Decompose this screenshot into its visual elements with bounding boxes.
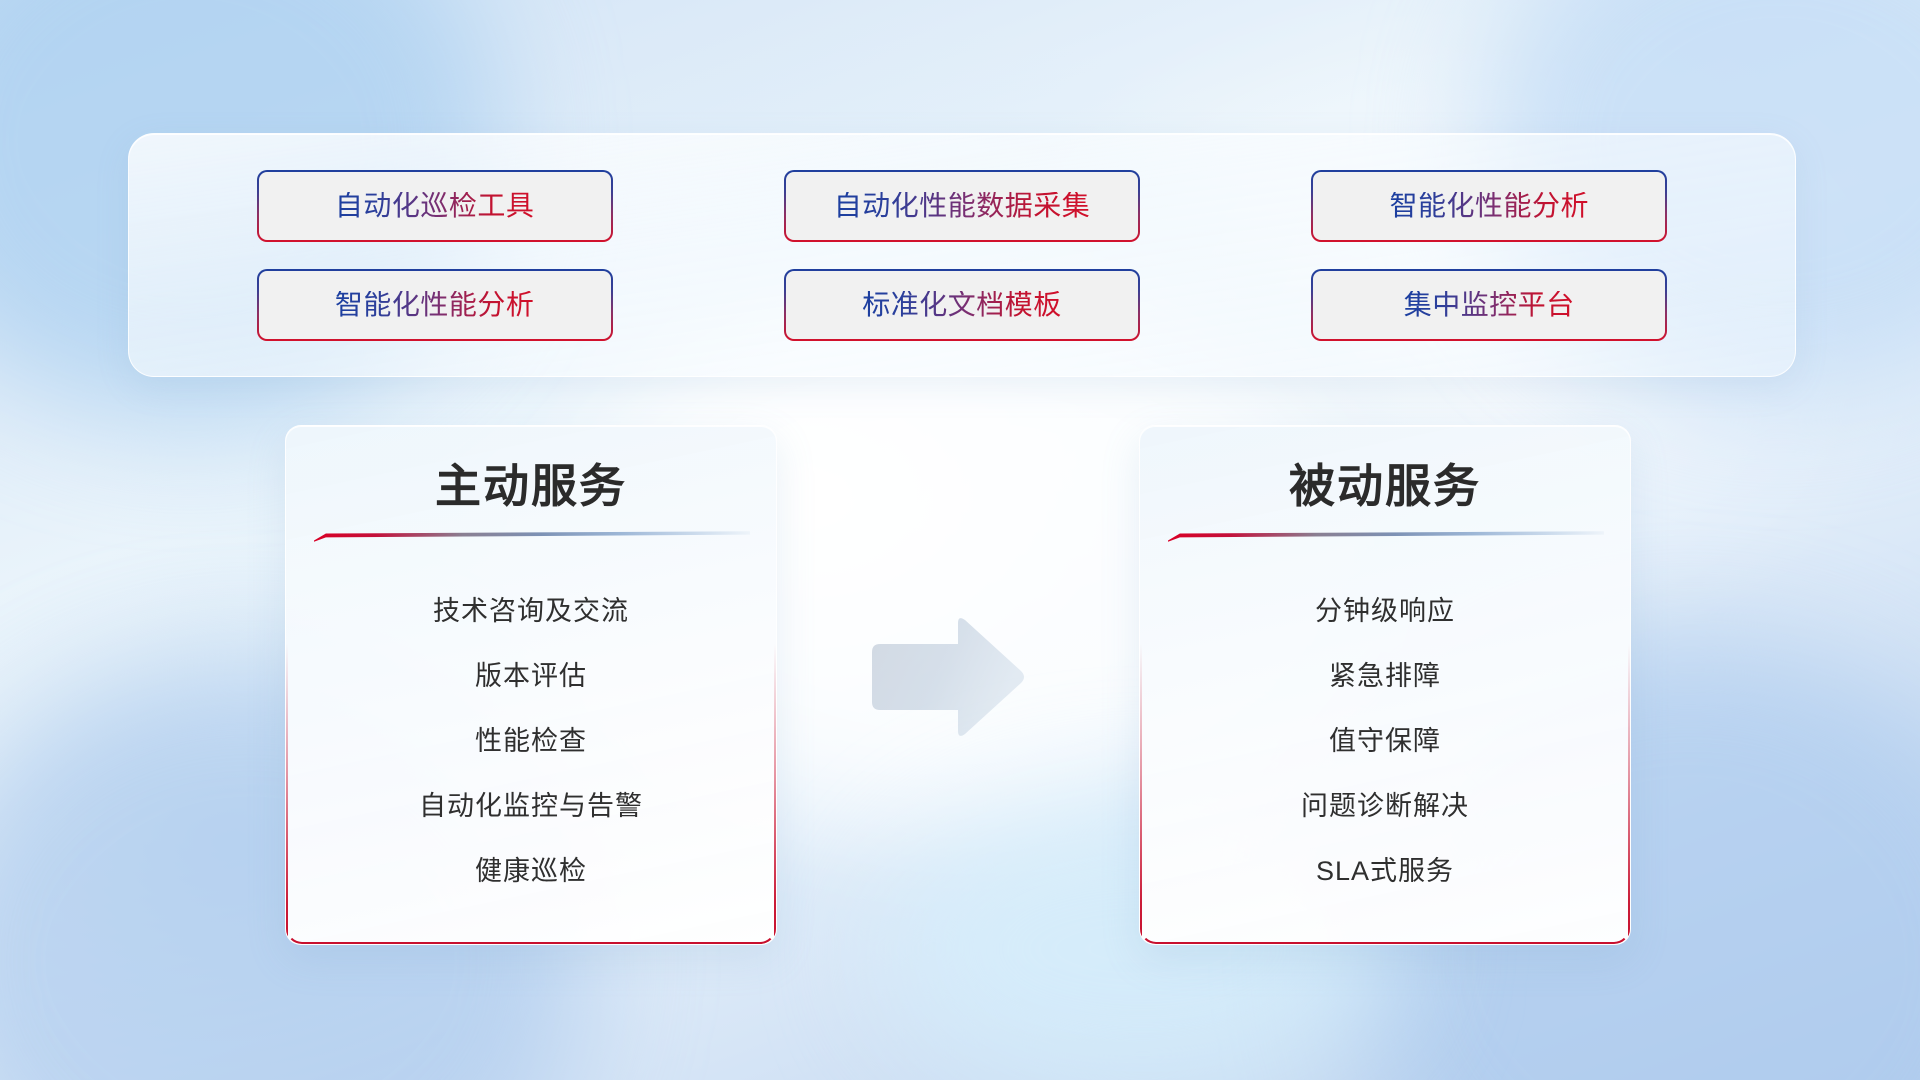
- capability-pill-label: 智能化性能分析: [335, 291, 535, 319]
- capability-pill-label: 自动化性能数据采集: [834, 192, 1091, 220]
- list-item: 紧急排障: [1329, 660, 1441, 692]
- title-gradient-divider: [1168, 530, 1604, 542]
- passive-service-title: 被动服务: [1140, 460, 1630, 513]
- capability-pill-label: 智能化性能分析: [1390, 192, 1590, 220]
- slide-canvas: 自动化巡检工具 自动化性能数据采集 智能化性能分析 智能化性能分析 标准化文档模…: [0, 0, 1920, 1080]
- capability-pill-2[interactable]: 自动化性能数据采集: [784, 170, 1140, 242]
- capability-pill-label: 集中监控平台: [1404, 291, 1575, 319]
- active-service-title: 主动服务: [286, 460, 776, 513]
- list-item: 自动化监控与告警: [419, 790, 643, 822]
- arrow-right-icon: [866, 614, 1028, 740]
- list-item: 技术咨询及交流: [433, 595, 629, 627]
- list-item: SLA式服务: [1316, 855, 1454, 887]
- passive-service-list: 分钟级响应 紧急排障 值守保障 问题诊断解决 SLA式服务: [1158, 562, 1612, 920]
- active-service-card[interactable]: 主动服务 技术咨询及交流 版本评估: [285, 425, 777, 945]
- list-item: 分钟级响应: [1315, 595, 1455, 627]
- capability-pill-4[interactable]: 智能化性能分析: [257, 269, 613, 341]
- capability-pill-3[interactable]: 智能化性能分析: [1311, 170, 1667, 242]
- title-gradient-divider: [314, 530, 750, 542]
- capability-panel: 自动化巡检工具 自动化性能数据采集 智能化性能分析 智能化性能分析 标准化文档模…: [128, 133, 1796, 377]
- capability-pill-5[interactable]: 标准化文档模板: [784, 269, 1140, 341]
- list-item: 版本评估: [475, 660, 587, 692]
- active-service-list: 技术咨询及交流 版本评估 性能检查 自动化监控与告警 健康巡检: [304, 562, 758, 920]
- list-item: 性能检查: [475, 725, 587, 757]
- capability-pill-label: 自动化巡检工具: [335, 192, 535, 220]
- capability-pill-1[interactable]: 自动化巡检工具: [257, 170, 613, 242]
- list-item: 健康巡检: [475, 855, 587, 887]
- capability-pill-label: 标准化文档模板: [862, 291, 1062, 319]
- list-item: 问题诊断解决: [1301, 790, 1469, 822]
- capability-pill-6[interactable]: 集中监控平台: [1311, 269, 1667, 341]
- passive-service-card[interactable]: 被动服务 分钟级响应 紧急排障: [1139, 425, 1631, 945]
- list-item: 值守保障: [1329, 725, 1441, 757]
